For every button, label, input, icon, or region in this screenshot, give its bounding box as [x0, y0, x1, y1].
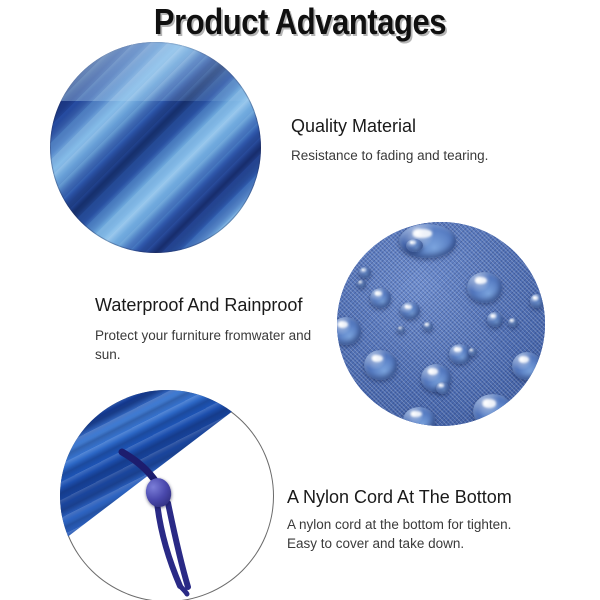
- water-drop: [359, 267, 371, 278]
- water-drop: [508, 318, 518, 327]
- water-drop: [423, 322, 433, 331]
- water-drop: [436, 382, 449, 394]
- product-advantages-infographic: Product Advantages: [0, 0, 600, 600]
- water-drop: [530, 294, 544, 308]
- water-drop: [397, 326, 405, 333]
- feature-body-nylon-cord: A nylon cord at the bottom for tighten.E…: [287, 515, 557, 553]
- feature-heading-quality-material: Quality Material: [291, 115, 416, 137]
- fabric-sheen-texture: [50, 42, 261, 253]
- water-drop: [467, 272, 502, 303]
- water-droplets-on-fabric-circle: [337, 222, 545, 426]
- water-drop: [400, 302, 420, 319]
- feature-heading-nylon-cord: A Nylon Cord At The Bottom: [287, 486, 512, 508]
- satin-fabric-closeup-circle: [50, 42, 261, 253]
- water-drop: [357, 280, 366, 288]
- feature-body-waterproof-and-rainproof: Protect your furniture fromwater and sun…: [95, 326, 320, 364]
- water-drop: [403, 407, 435, 426]
- water-drop: [468, 348, 477, 356]
- page-title: Product Advantages: [42, 2, 558, 42]
- nylon-cord-toggle-circle: [60, 390, 274, 600]
- water-drop: [512, 352, 542, 380]
- feature-body-quality-material: Resistance to fading and tearing.: [291, 146, 541, 165]
- water-drop: [406, 239, 423, 252]
- water-drop: [487, 312, 503, 327]
- water-drop: [473, 394, 513, 426]
- water-drop: [370, 288, 391, 308]
- feature-heading-waterproof-and-rainproof: Waterproof And Rainproof: [95, 294, 302, 316]
- water-drop: [364, 350, 397, 380]
